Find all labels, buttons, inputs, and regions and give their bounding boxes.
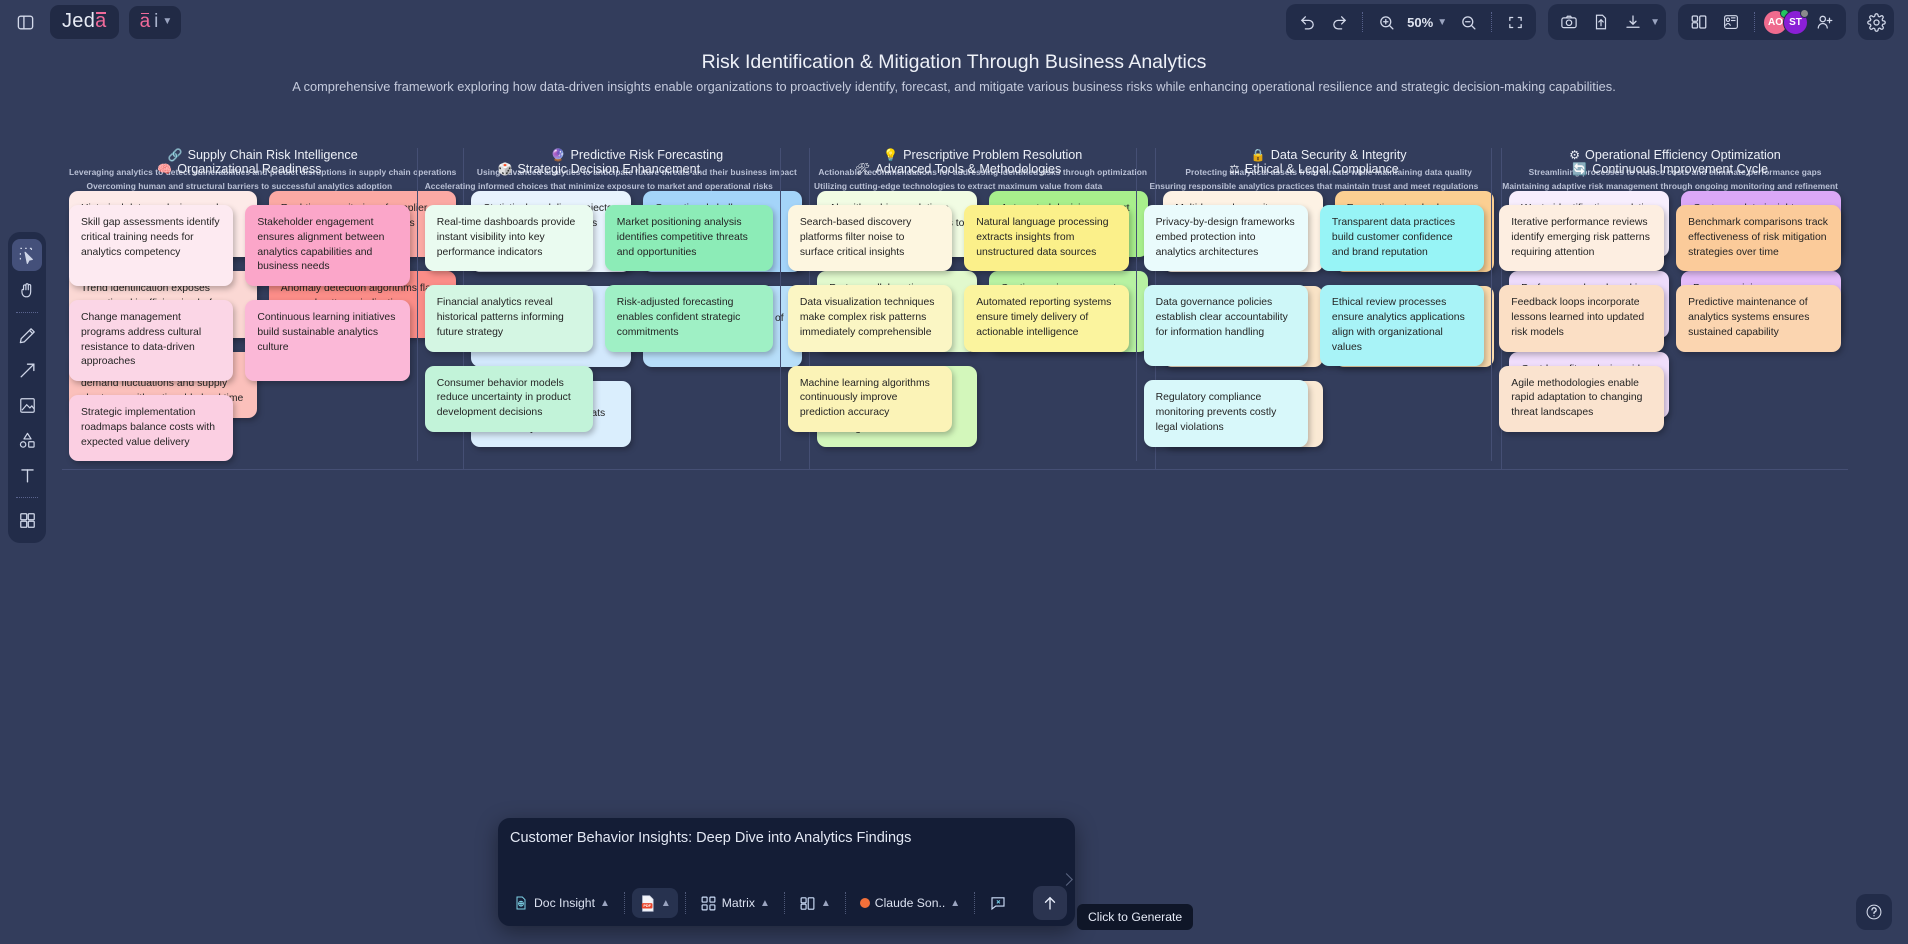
status-dot-away	[1800, 9, 1809, 18]
section-6: 🧠Organizational ReadinessOvercoming huma…	[62, 148, 418, 461]
page-title: Risk Identification & Mitigation Through…	[0, 51, 1908, 74]
section-icon: 🛠	[855, 162, 870, 176]
model-status-dot	[860, 898, 870, 908]
chevron-down-icon: ▼	[162, 16, 172, 27]
avatar-initials: AO	[1768, 17, 1783, 28]
chevron-up-icon: ▲	[950, 898, 960, 909]
model-label: Claude Son..	[875, 896, 945, 910]
zoom-level-dropdown[interactable]: 50% ▼	[1403, 15, 1451, 30]
shape-tool[interactable]	[12, 424, 42, 456]
section-title-text: Continuous Improvement Cycle	[1592, 162, 1768, 176]
section-title: 🔄Continuous Improvement Cycle	[1499, 162, 1841, 176]
zoom-level-value: 50%	[1407, 15, 1433, 30]
avatar-initials: ST	[1789, 17, 1802, 28]
prompt-panel[interactable]: Customer Behavior Insights: Deep Dive in…	[498, 818, 1075, 926]
insight-card[interactable]: Change management programs address cultu…	[69, 300, 233, 381]
chevron-up-icon: ▲	[600, 898, 610, 909]
insight-card[interactable]: Machine learning algorithms continuously…	[788, 366, 952, 432]
section-icon: 🧠	[157, 162, 172, 176]
insight-card[interactable]: Feedback loops incorporate lessons learn…	[1499, 285, 1664, 351]
hand-tool[interactable]	[12, 274, 42, 306]
section-title: ⚖Ethical & Legal Compliance	[1144, 162, 1485, 176]
section-10: 🔄Continuous Improvement CycleMaintaining…	[1492, 148, 1848, 461]
left-toolbar	[8, 232, 46, 543]
canvas[interactable]: Risk Identification & Mitigation Through…	[0, 0, 1908, 944]
insight-card[interactable]: Benchmark comparisons track effectivenes…	[1676, 205, 1841, 271]
format-button[interactable]: PDF ▲	[632, 888, 678, 918]
divider	[1491, 12, 1492, 32]
section-icon: 🎲	[497, 162, 512, 176]
image-tool[interactable]	[12, 389, 42, 421]
format-badge: PDF	[643, 904, 651, 908]
section-subtitle: Overcoming human and structural barriers…	[69, 181, 410, 191]
insight-card[interactable]: Agile methodologies enable rapid adaptat…	[1499, 366, 1664, 432]
model-selector-button[interactable]: Claude Son.. ▲	[853, 888, 967, 918]
card-list: Privacy-by-design frameworks embed prote…	[1144, 205, 1485, 447]
send-button[interactable]	[1033, 886, 1067, 920]
insight-card[interactable]: Continuous learning initiatives build su…	[245, 300, 409, 381]
section-title-text: Advanced Tools & Methodologies	[875, 162, 1061, 176]
section-8: 🛠Advanced Tools & MethodologiesUtilizing…	[781, 148, 1137, 461]
brand-logo[interactable]: Jeda	[50, 5, 119, 39]
clear-chat-button[interactable]	[982, 888, 1014, 918]
insight-card[interactable]: Natural language processing extracts ins…	[964, 205, 1128, 271]
chevron-up-icon: ▲	[821, 898, 831, 909]
settings-group	[1858, 4, 1894, 40]
chevron-up-icon: ▲	[661, 898, 671, 909]
divider	[1362, 12, 1363, 32]
zoom-in-icon[interactable]	[1371, 7, 1401, 37]
pen-tool[interactable]	[12, 319, 42, 351]
topbar-left-group: Jeda ai ▼	[0, 5, 181, 39]
collab-group: AO ST	[1678, 4, 1846, 40]
arrow-tool[interactable]	[12, 354, 42, 386]
card-list: Iterative performance reviews identify e…	[1499, 205, 1841, 432]
gear-icon[interactable]	[1861, 7, 1891, 37]
insight-card[interactable]: Regulatory compliance monitoring prevent…	[1144, 380, 1308, 446]
chevron-down-icon: ▼	[1437, 17, 1447, 28]
generate-tooltip: Click to Generate	[1077, 904, 1193, 930]
section-7: 🎲Strategic Decision EnhancementAccelerat…	[418, 148, 781, 461]
fit-to-screen-icon[interactable]	[1500, 7, 1530, 37]
download-icon[interactable]	[1618, 7, 1648, 37]
export-group: ▼	[1548, 4, 1666, 40]
insight-card[interactable]: Strategic implementation roadmaps balanc…	[69, 395, 233, 461]
ai-label: i	[154, 11, 158, 33]
brand-accent: a	[95, 10, 106, 33]
page-subtitle: A comprehensive framework exploring how …	[0, 79, 1908, 94]
zoom-out-icon[interactable]	[1453, 7, 1483, 37]
top-toolbar: Jeda ai ▼ 50% ▼	[0, 0, 1908, 44]
section-title-text: Strategic Decision Enhancement	[517, 162, 700, 176]
topbar-right-group: 50% ▼ ▼	[1286, 4, 1908, 40]
section-grid-row-2: 🧠Organizational ReadinessOvercoming huma…	[62, 148, 1848, 461]
sidebar-toggle-icon[interactable]	[10, 7, 40, 37]
insight-card[interactable]: Ethical review processes ensure analytic…	[1320, 285, 1484, 366]
divider	[974, 892, 975, 914]
insight-card[interactable]: Real-time dashboards provide instant vis…	[425, 205, 593, 271]
insight-card[interactable]: Market positioning analysis identifies c…	[605, 205, 773, 271]
chevron-down-icon[interactable]: ▼	[1650, 17, 1660, 28]
section-9: ⚖Ethical & Legal ComplianceEnsuring resp…	[1137, 148, 1493, 461]
avatar[interactable]: ST	[1783, 10, 1808, 35]
divider	[1754, 12, 1755, 32]
card-list: Real-time dashboards provide instant vis…	[425, 205, 773, 432]
section-title-text: Ethical & Legal Compliance	[1245, 162, 1399, 176]
divider	[784, 892, 785, 914]
section-title: 🛠Advanced Tools & Methodologies	[788, 162, 1129, 176]
ai-accent: a	[140, 11, 151, 33]
insight-card[interactable]: Stakeholder engagement ensures alignment…	[245, 205, 409, 286]
divider	[16, 312, 38, 313]
insight-card[interactable]: Predictive maintenance of analytics syst…	[1676, 285, 1841, 351]
section-title: 🎲Strategic Decision Enhancement	[425, 162, 773, 176]
split-view-icon[interactable]	[1684, 7, 1714, 37]
doc-insight-label: Doc Insight	[534, 896, 595, 910]
grid-tool[interactable]	[12, 504, 42, 536]
card-list: Skill gap assessments identify critical …	[69, 205, 410, 461]
upload-icon[interactable]	[1586, 7, 1616, 37]
insight-card[interactable]: Data visualization techniques make compl…	[788, 285, 952, 351]
divider	[16, 497, 38, 498]
layout-button[interactable]: ▲	[792, 888, 838, 918]
history-zoom-group: 50% ▼	[1286, 4, 1536, 40]
insight-card[interactable]: Privacy-by-design frameworks embed prote…	[1144, 205, 1308, 271]
doc-insight-button[interactable]: Doc Insight ▲	[506, 888, 617, 918]
screenshot-icon[interactable]	[1554, 7, 1584, 37]
insight-card[interactable]: Automated reporting systems ensure timel…	[964, 285, 1128, 351]
prompt-toolbar: Doc Insight ▲ PDF ▲ Matrix ▲ ▲ Claude So…	[498, 880, 1075, 926]
divider	[845, 892, 846, 914]
redo-icon[interactable]	[1324, 7, 1354, 37]
divider	[624, 892, 625, 914]
section-title-text: Organizational Readiness	[177, 162, 321, 176]
undo-icon[interactable]	[1292, 7, 1322, 37]
section-icon: ⚖	[1229, 162, 1240, 176]
section-title: 🧠Organizational Readiness	[69, 162, 410, 176]
insight-card[interactable]: Transparent data practices build custome…	[1320, 205, 1484, 271]
matrix-button[interactable]: Matrix ▲	[693, 888, 777, 918]
insight-card[interactable]: Search-based discovery platforms filter …	[788, 205, 952, 271]
section-subtitle: Maintaining adaptive risk management thr…	[1499, 181, 1841, 191]
section-subtitle: Ensuring responsible analytics practices…	[1144, 181, 1485, 191]
chevron-up-icon: ▲	[760, 898, 770, 909]
insight-card[interactable]: Data governance policies establish clear…	[1144, 285, 1308, 366]
section-subtitle: Utilizing cutting-edge technologies to e…	[788, 181, 1129, 191]
brand-text: Jed	[62, 10, 95, 33]
add-user-icon[interactable]	[1810, 7, 1840, 37]
card-list: Search-based discovery platforms filter …	[788, 205, 1129, 432]
section-subtitle: Accelerating informed choices that minim…	[425, 181, 773, 191]
select-tool[interactable]	[12, 239, 42, 271]
insight-card[interactable]: Risk-adjusted forecasting enables confid…	[605, 285, 773, 351]
prompt-input[interactable]: Customer Behavior Insights: Deep Dive in…	[510, 830, 1059, 846]
matrix-label: Matrix	[722, 896, 755, 910]
ai-menu-button[interactable]: ai ▼	[129, 6, 182, 39]
text-tool[interactable]	[12, 459, 42, 491]
section-icon: 🔄	[1572, 162, 1587, 176]
present-icon[interactable]	[1716, 7, 1746, 37]
divider	[685, 892, 686, 914]
insight-card[interactable]: Financial analytics reveal historical pa…	[425, 285, 593, 351]
insight-card[interactable]: Skill gap assessments identify critical …	[69, 205, 233, 286]
insight-card[interactable]: Iterative performance reviews identify e…	[1499, 205, 1664, 271]
insight-card[interactable]: Consumer behavior models reduce uncertai…	[425, 366, 593, 432]
help-button[interactable]	[1856, 894, 1892, 930]
